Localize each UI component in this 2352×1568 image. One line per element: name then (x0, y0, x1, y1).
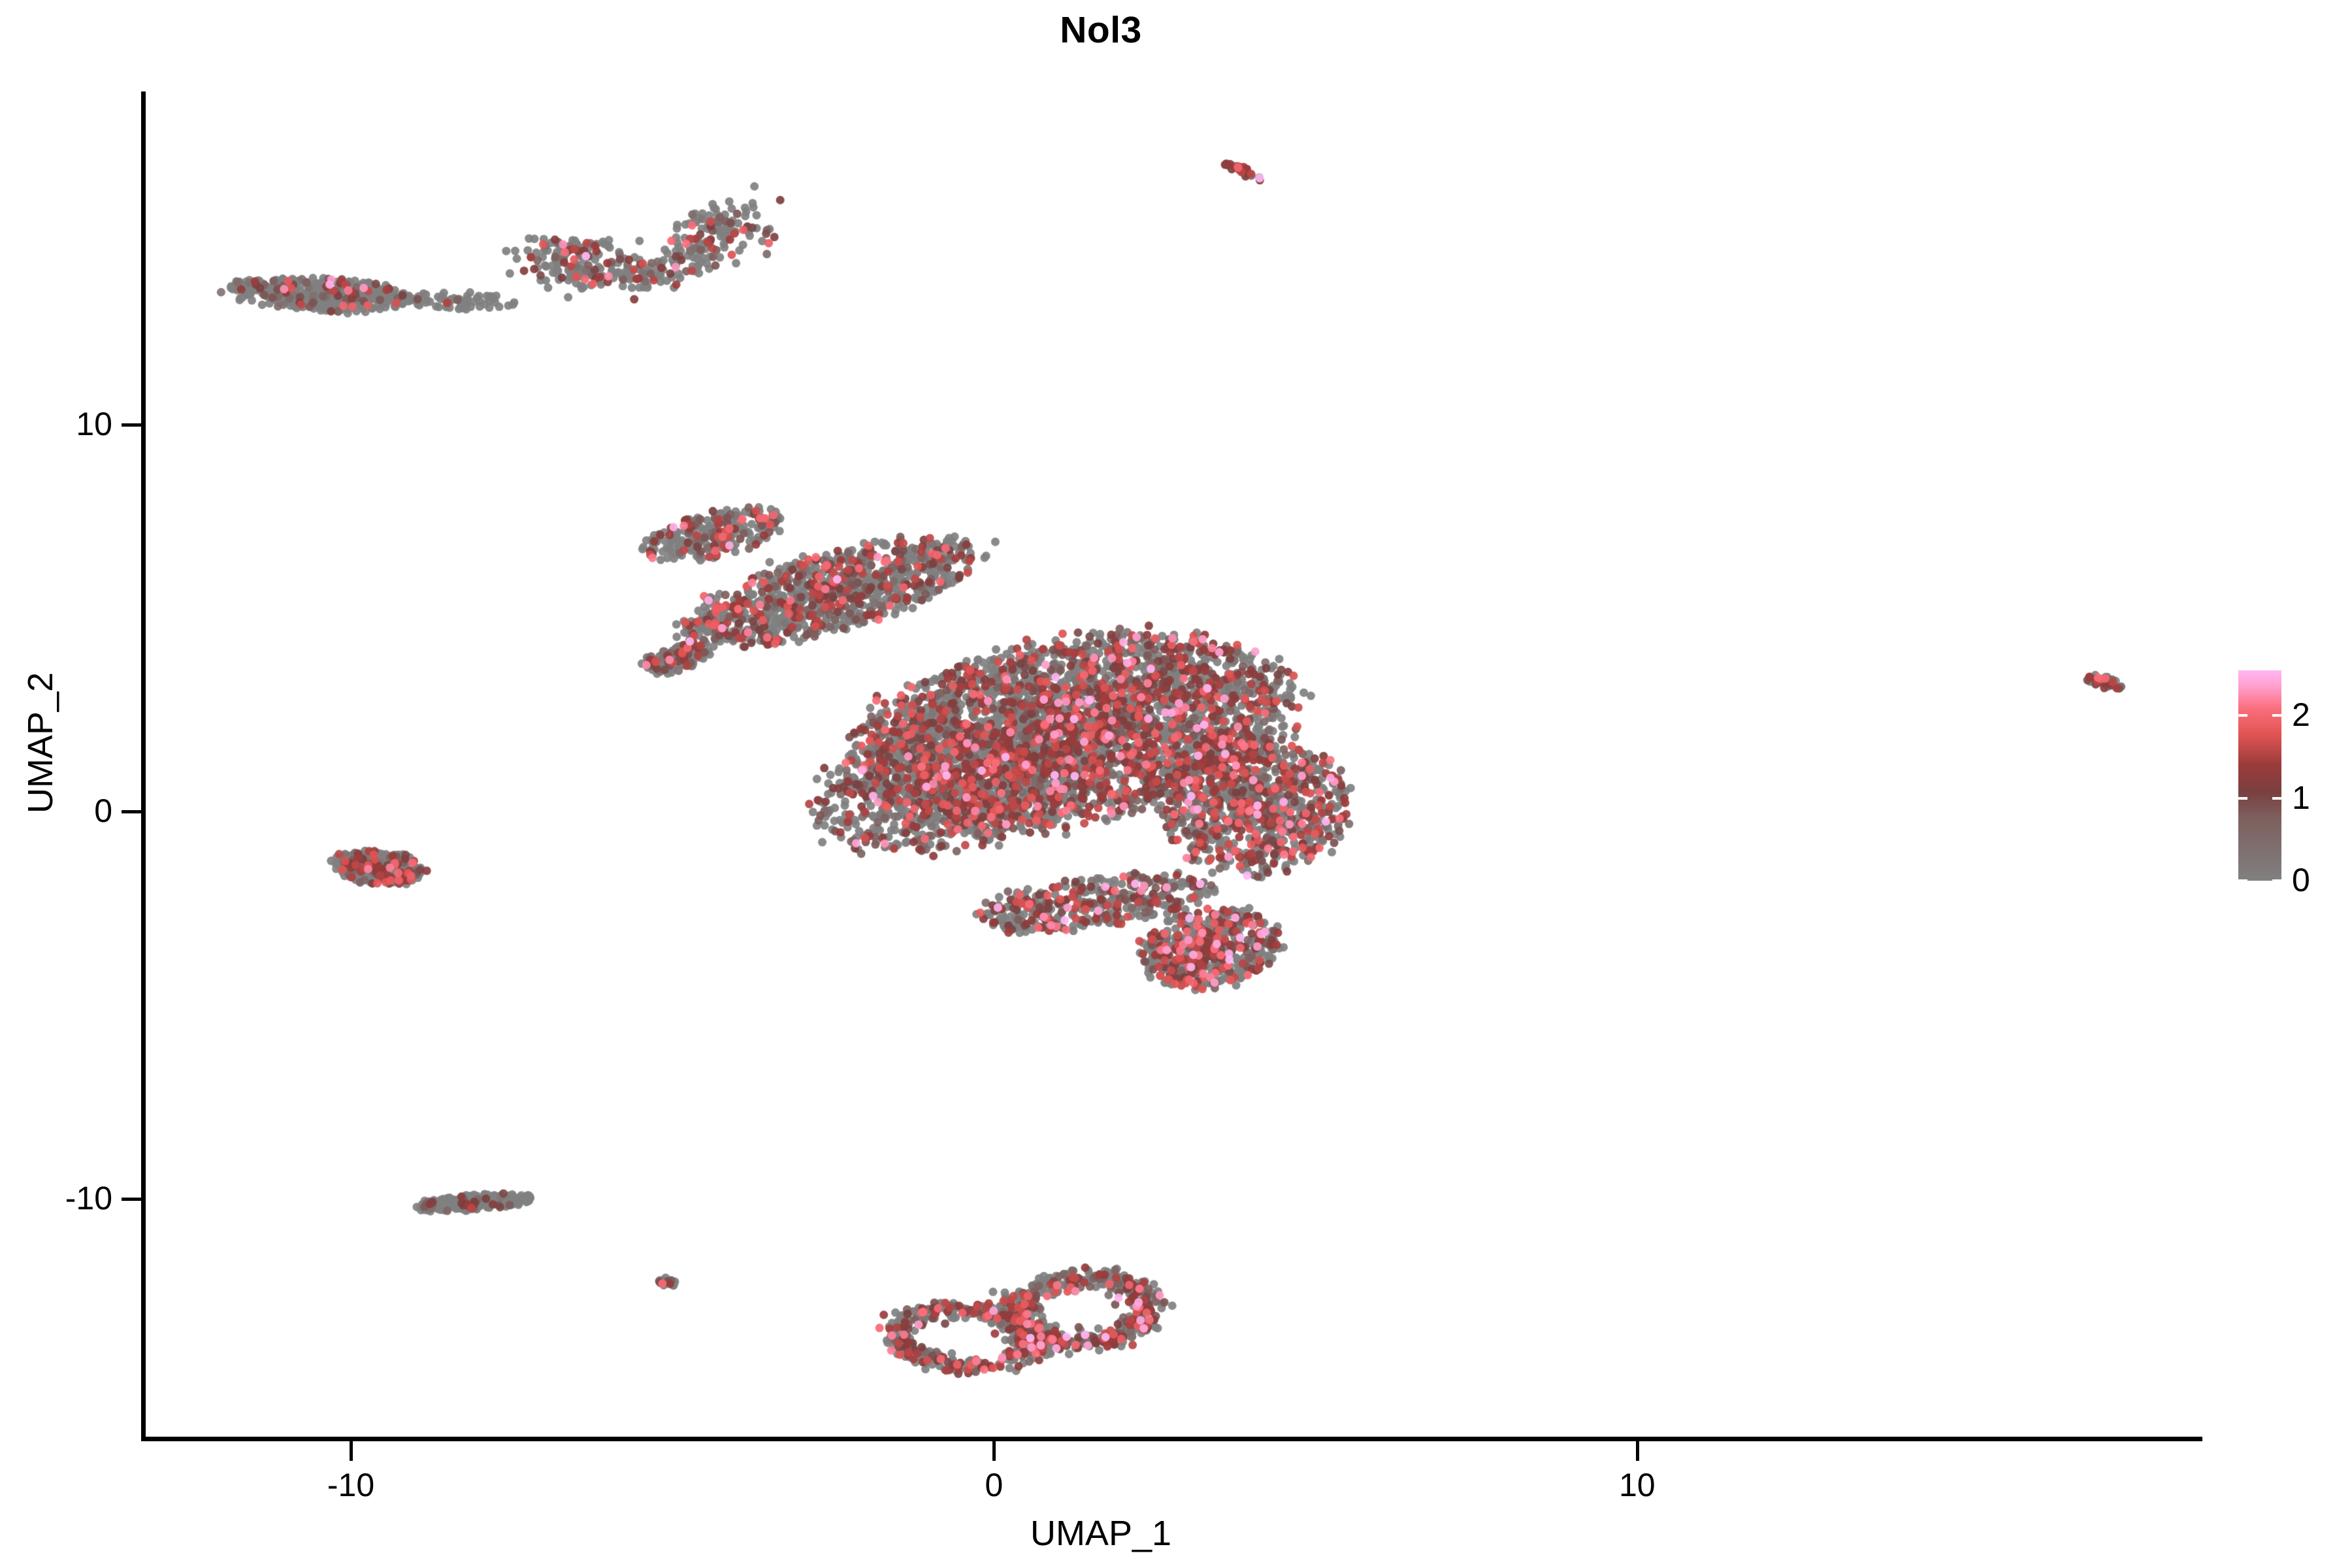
y-tick-label: 10 (0, 408, 112, 440)
colorbar-gradient (2238, 670, 2281, 881)
x-tick-mark (992, 1441, 996, 1461)
y-tick-mark (122, 423, 141, 427)
colorbar-tick-label: 1 (2292, 781, 2351, 814)
x-tick-label: -10 (279, 1469, 423, 1501)
page-title: Nol3 (0, 12, 2202, 49)
x-axis-line (141, 1437, 2202, 1441)
y-tick-label: -10 (0, 1182, 112, 1215)
scatter-plot-canvas (145, 91, 2203, 1439)
x-tick-label: 0 (922, 1469, 1066, 1501)
colorbar-tick-label: 2 (2292, 698, 2351, 731)
umap-feature-plot: Nol3 -10010 -10010 UMAP_1 UMAP_2 012 (0, 0, 2352, 1568)
x-axis-title: UMAP_1 (0, 1516, 2202, 1551)
colorbar-tick-label: 0 (2292, 864, 2351, 896)
x-tick-label: 10 (1565, 1469, 1709, 1501)
x-tick-mark (1636, 1441, 1639, 1461)
y-axis-title: UMAP_2 (23, 514, 58, 972)
x-tick-mark (350, 1441, 353, 1461)
y-tick-mark (122, 1198, 141, 1201)
colorbar-legend: 012 (2238, 670, 2343, 882)
y-tick-mark (122, 810, 141, 813)
y-axis-line (141, 91, 146, 1441)
